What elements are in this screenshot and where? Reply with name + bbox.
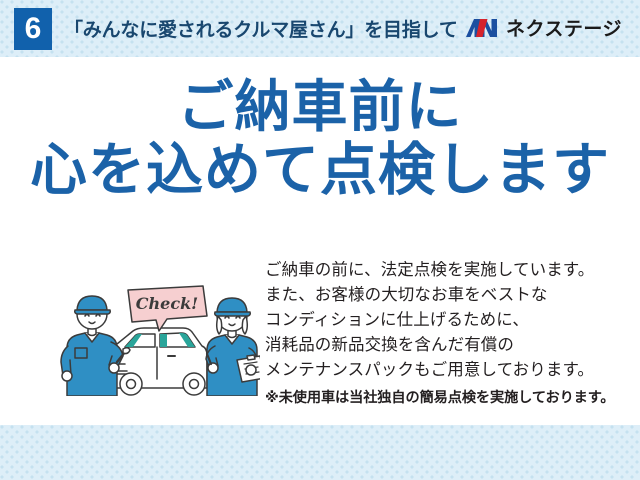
nextage-n-mark-icon [465, 16, 499, 40]
headline-line-2: 心を込めて点検します [0, 141, 640, 199]
footer: ネクステージ [0, 0, 640, 55]
body-line-4: 消耗品の新品交換を含んだ有償の [265, 333, 635, 358]
speech-bubble-text: Check! [136, 294, 198, 313]
headline: ご納車前に 心を込めて点検します [0, 78, 640, 199]
body-copy: ご納車の前に、法定点検を実施しています。 また、お客様の大切なお車をベストな コ… [265, 258, 635, 411]
mechanics-inspecting-van-illustration: Check! [55, 276, 260, 396]
body-line-1: ご納車の前に、法定点検を実施しています。 [265, 258, 635, 283]
headline-line-1: ご納車前に [0, 78, 640, 135]
brand-name: ネクステージ [506, 14, 622, 41]
footer-band [0, 425, 640, 480]
right-mechanic [206, 298, 260, 396]
promo-page: 6 「みんなに愛されるクルマ屋さん」を目指して ご納車前に 心を込めて点検します… [0, 0, 640, 480]
body-line-3: コンディションに仕上げるために、 [265, 308, 635, 333]
van-illustration [110, 328, 207, 395]
body-line-2: また、お客様の大切なお車をベストな [265, 283, 635, 308]
body-line-5: メンテナンスパックもご用意しております。 [265, 358, 635, 383]
body-note: ※未使用車は当社独自の簡易点検を実施しております。 [265, 386, 635, 411]
brand-logo: ネクステージ [465, 14, 622, 41]
